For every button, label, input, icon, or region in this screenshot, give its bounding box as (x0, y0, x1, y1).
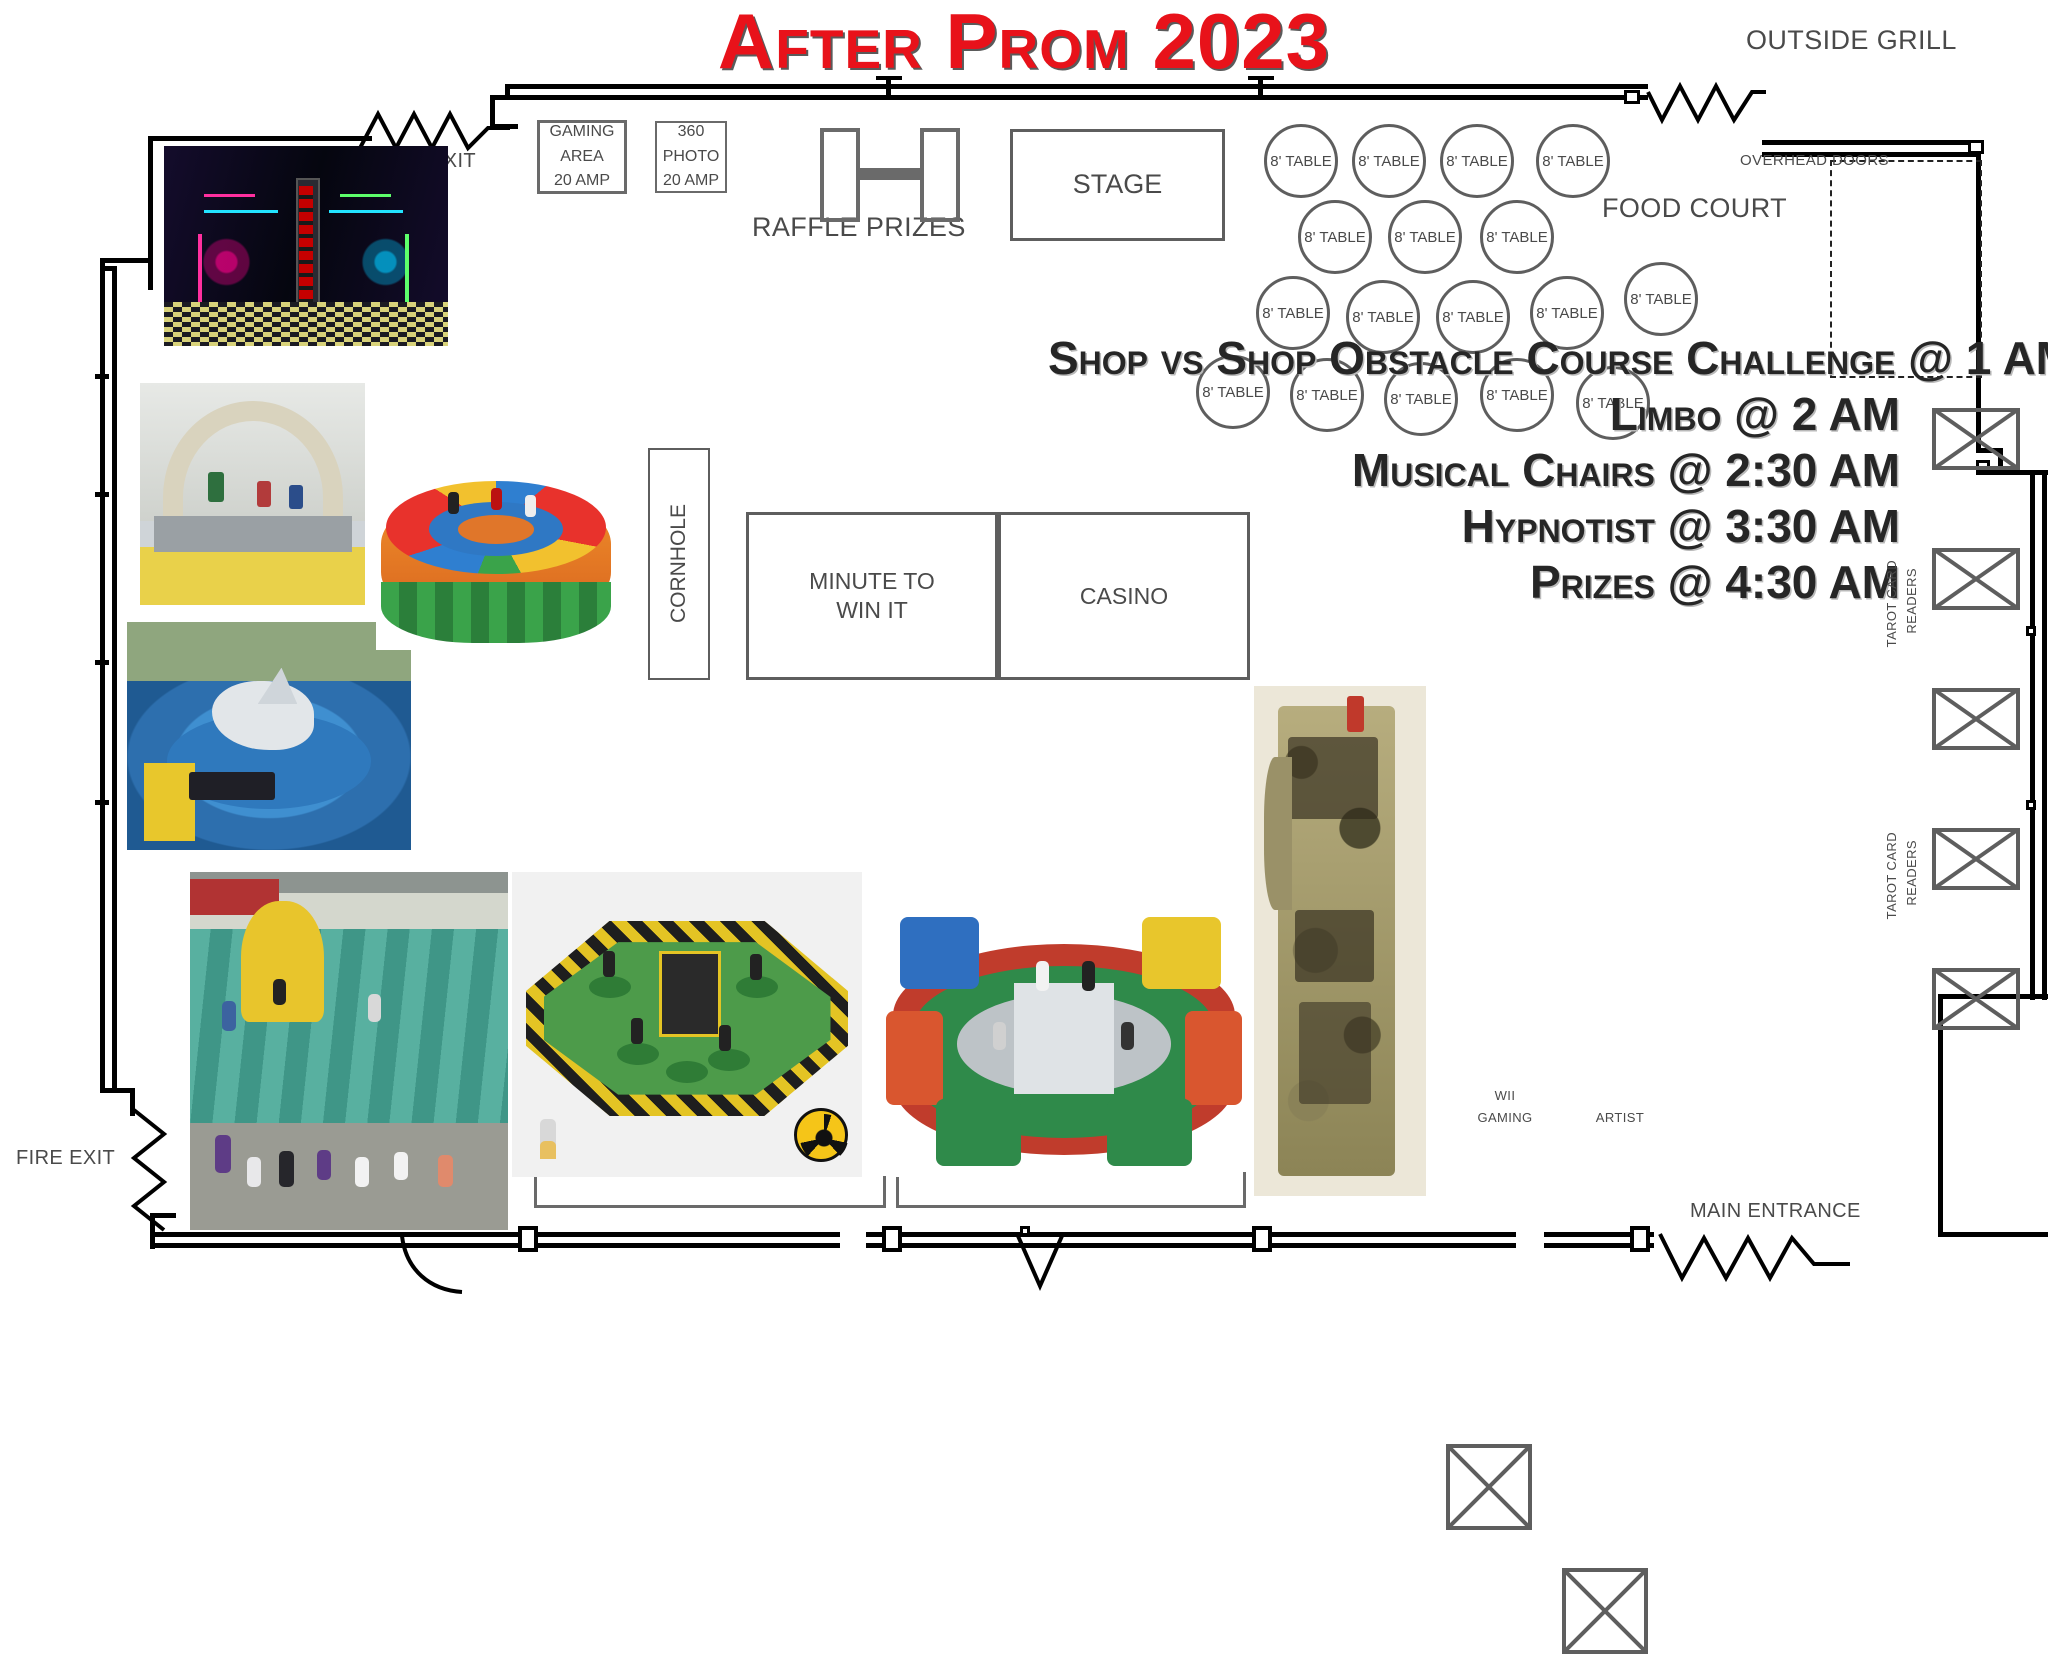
room-gaming-area: GAMING AREA 20 AMP (537, 120, 627, 194)
table-row: 8' TABLE (1298, 200, 1372, 274)
table-label: 8' TABLE (1394, 229, 1456, 246)
wall-bottom-1-outer (150, 1232, 840, 1237)
room-stage: STAGE (1010, 129, 1225, 241)
door-marker-bottom-3 (1252, 1226, 1272, 1252)
window-left-3 (95, 660, 109, 665)
wall-top-inner (508, 95, 1648, 100)
room-360-photo: 360 PHOTO 20 AMP (655, 121, 727, 193)
raffle-table-cross (856, 168, 924, 180)
window-right-2 (2026, 800, 2036, 810)
photo-battle-axe (164, 146, 448, 346)
label-tarot-card-readers-2-line2: READERS (1904, 840, 1919, 906)
label-wii-gaming-line2: GAMING (1450, 1110, 1560, 1125)
wall-left-inner (112, 270, 117, 1090)
table-row: 8' TABLE (1264, 124, 1338, 198)
door-marker-top-3 (1624, 90, 1640, 104)
door-marker-top-1 (886, 78, 891, 95)
wall-right-bottom-2 (1938, 994, 1943, 1234)
wall-left-cap (100, 266, 117, 271)
wall-left-outer (100, 270, 105, 1090)
minute-to-win-it-line2: WIN IT (836, 597, 908, 623)
cornhole-label: CORNHOLE (666, 504, 692, 623)
table-label: 8' TABLE (1304, 229, 1366, 246)
table-row: 8' TABLE (1352, 124, 1426, 198)
floor-plan-canvas: After Prom 2023 (0, 0, 2048, 1279)
label-tarot-card-readers-1-line2: READERS (1904, 568, 1919, 634)
stage-label: STAGE (1073, 168, 1163, 202)
table-row: 8' TABLE (1624, 262, 1698, 336)
tarot-station (1932, 968, 2020, 1030)
schedule-item: Prizes @ 4:30 AM (1048, 554, 1900, 610)
label-overhead-doors: OVERHEAD DOORS (1740, 152, 1889, 169)
wall-bottom-2-outer (866, 1232, 1516, 1237)
page-title: After Prom 2023 (0, 0, 2048, 87)
wall-ll-1 (100, 1088, 134, 1093)
label-wii-gaming-line1: WII (1470, 1088, 1540, 1103)
raffle-table-right (920, 128, 960, 222)
wall-ul-2 (148, 136, 372, 141)
schedule-item: Musical Chairs @ 2:30 AM (1048, 442, 1900, 498)
table-row: 8' TABLE (1440, 124, 1514, 198)
label-outside-grill: OUTSIDE GRILL (1746, 25, 1957, 56)
minute-to-win-it-line1: MINUTE TO (809, 568, 935, 594)
photo-gladiator-joust (886, 900, 1242, 1177)
label-food-court: FOOD COURT (1602, 193, 1787, 224)
table-label: 8' TABLE (1542, 153, 1604, 170)
label-artist: ARTIST (1565, 1110, 1675, 1125)
label-main-entrance: MAIN ENTRANCE (1690, 1200, 1861, 1223)
room-minute-to-win-it: MINUTE TO WIN IT (746, 512, 998, 680)
table-label: 8' TABLE (1442, 309, 1504, 326)
table-label: 8' TABLE (1358, 153, 1420, 170)
door-swing-bottom-left (400, 1236, 490, 1306)
schedule-item: Shop vs Shop Obstacle Course Challenge @… (1048, 330, 1900, 386)
door-swing-bottom-center (1018, 1236, 1098, 1300)
dimension-bracket-right (896, 1172, 1246, 1208)
table-label: 8' TABLE (1270, 153, 1332, 170)
table-label: 8' TABLE (1486, 229, 1548, 246)
table-row: 8' TABLE (1388, 200, 1462, 274)
photo-rock-climb (140, 383, 365, 605)
door-marker-bottom-4 (1630, 1226, 1650, 1252)
window-left-2 (95, 492, 109, 497)
station-wii-gaming (1446, 1444, 1532, 1530)
wall-bottom-1-inner (150, 1243, 840, 1248)
gaming-area-line3: 20 AMP (554, 169, 610, 194)
schedule-item: Hypnotist @ 3:30 AM (1048, 498, 1900, 554)
window-left-1 (95, 374, 109, 379)
door-marker-top-1-cap (876, 76, 902, 80)
window-left-4 (95, 800, 109, 805)
window-right-1 (2026, 626, 2036, 636)
table-row: 8' TABLE (1480, 200, 1554, 274)
wall-break-right-top (1648, 78, 1766, 124)
tarot-station (1932, 688, 2020, 750)
table-label: 8' TABLE (1536, 305, 1598, 322)
label-tarot-card-readers-2-line1: TAROT CARD (1884, 832, 1899, 919)
tarot-station (1932, 828, 2020, 890)
door-marker-bottom-2 (882, 1226, 902, 1252)
photo-rotating-ride (376, 470, 616, 650)
wall-bottom-2-inner (866, 1243, 1516, 1248)
photo-360-line1: 360 (678, 120, 705, 145)
table-label: 8' TABLE (1446, 153, 1508, 170)
table-label: 8' TABLE (1630, 291, 1692, 308)
wall-ul-4 (100, 258, 152, 263)
tarot-station (1932, 548, 2020, 610)
door-marker-top-2 (1258, 78, 1263, 95)
label-fire-exit: FIRE EXIT (16, 1147, 115, 1170)
table-label: 8' TABLE (1262, 305, 1324, 322)
raffle-table-left (820, 128, 860, 222)
door-marker-bottom-5 (1020, 1226, 1030, 1236)
wall-ul-3 (148, 155, 153, 290)
schedule-item: Limbo @ 2 AM (1048, 386, 1900, 442)
dimension-bracket-left (534, 1176, 886, 1208)
tarot-station (1932, 408, 2020, 470)
door-marker-top-2-cap (1248, 76, 1274, 80)
station-artist (1562, 1568, 1648, 1654)
wall-ll-4 (150, 1213, 176, 1218)
table-label: 8' TABLE (1352, 309, 1414, 326)
gaming-area-line1: GAMING (550, 120, 615, 145)
photo-bounce-obstacle (190, 872, 508, 1230)
photo-shark-surf (127, 622, 411, 850)
label-tarot-card-readers-1-line1: TAROT CARD (1884, 560, 1899, 647)
wall-top-outer (508, 84, 1648, 89)
photo-360-line3: 20 AMP (663, 169, 719, 194)
table-row: 8' TABLE (1536, 124, 1610, 198)
door-marker-bottom-1 (518, 1226, 538, 1252)
wall-right-bottom-3 (1938, 1232, 2048, 1237)
photo-laser-tower (1254, 686, 1426, 1196)
gaming-area-line2: AREA (560, 145, 604, 170)
photo-wipeout (512, 872, 862, 1177)
room-cornhole: CORNHOLE (648, 448, 710, 680)
wall-right-top-outer (1762, 140, 1980, 145)
wall-break-main-entrance (1660, 1234, 1850, 1294)
wall-break-fire-exit (120, 1110, 180, 1230)
photo-360-line2: PHOTO (663, 145, 720, 170)
